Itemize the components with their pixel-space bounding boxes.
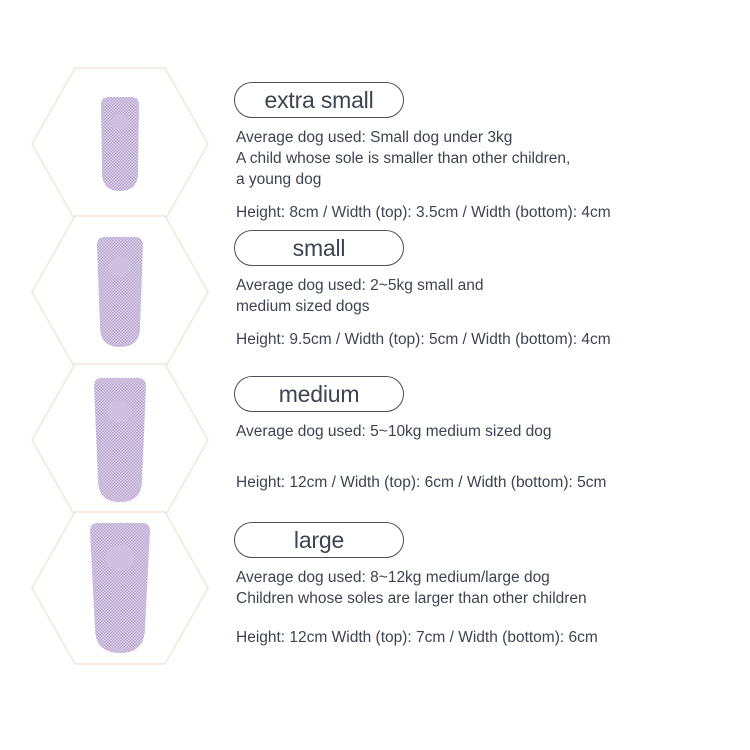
size-label-medium: medium — [234, 376, 404, 412]
size-dimensions-extra-small: Height: 8cm / Width (top): 3.5cm / Width… — [236, 202, 732, 223]
size-label-extra-small: extra small — [234, 82, 404, 118]
size-description-medium: Average dog used: 5~10kg medium sized do… — [236, 421, 732, 442]
size-block-extra-small: extra small Average dog used: Small dog … — [232, 82, 732, 223]
pad-image-small — [30, 214, 210, 370]
pad-image-extra-small — [30, 66, 210, 222]
size-label-small: small — [234, 230, 404, 266]
product-hex-tile-large — [30, 510, 210, 666]
size-description-large: Average dog used: 8~12kg medium/large do… — [236, 567, 732, 609]
size-info-column: extra small Average dog used: Small dog … — [232, 0, 750, 750]
pad-image-large — [30, 510, 210, 666]
size-dimensions-large: Height: 12cm Width (top): 7cm / Width (b… — [236, 627, 732, 648]
shoe-pad-icon — [96, 237, 144, 347]
size-block-medium: medium Average dog used: 5~10kg medium s… — [232, 376, 732, 493]
shoe-pad-icon — [89, 523, 151, 653]
size-chart-page: extra small Average dog used: Small dog … — [0, 0, 750, 750]
shoe-pad-icon — [100, 97, 140, 191]
product-hex-tile-small — [30, 214, 210, 370]
size-label-large: large — [234, 522, 404, 558]
pad-image-medium — [30, 362, 210, 518]
product-image-column — [0, 0, 232, 750]
product-hex-tile-extra-small — [30, 66, 210, 222]
product-hex-tile-medium — [30, 362, 210, 518]
shoe-pad-icon — [93, 378, 147, 502]
size-description-small: Average dog used: 2~5kg small and medium… — [236, 275, 732, 317]
size-dimensions-small: Height: 9.5cm / Width (top): 5cm / Width… — [236, 329, 732, 350]
size-description-extra-small: Average dog used: Small dog under 3kg A … — [236, 127, 732, 190]
size-block-small: small Average dog used: 2~5kg small and … — [232, 230, 732, 350]
size-block-large: large Average dog used: 8~12kg medium/la… — [232, 522, 732, 648]
size-dimensions-medium: Height: 12cm / Width (top): 6cm / Width … — [236, 472, 732, 493]
